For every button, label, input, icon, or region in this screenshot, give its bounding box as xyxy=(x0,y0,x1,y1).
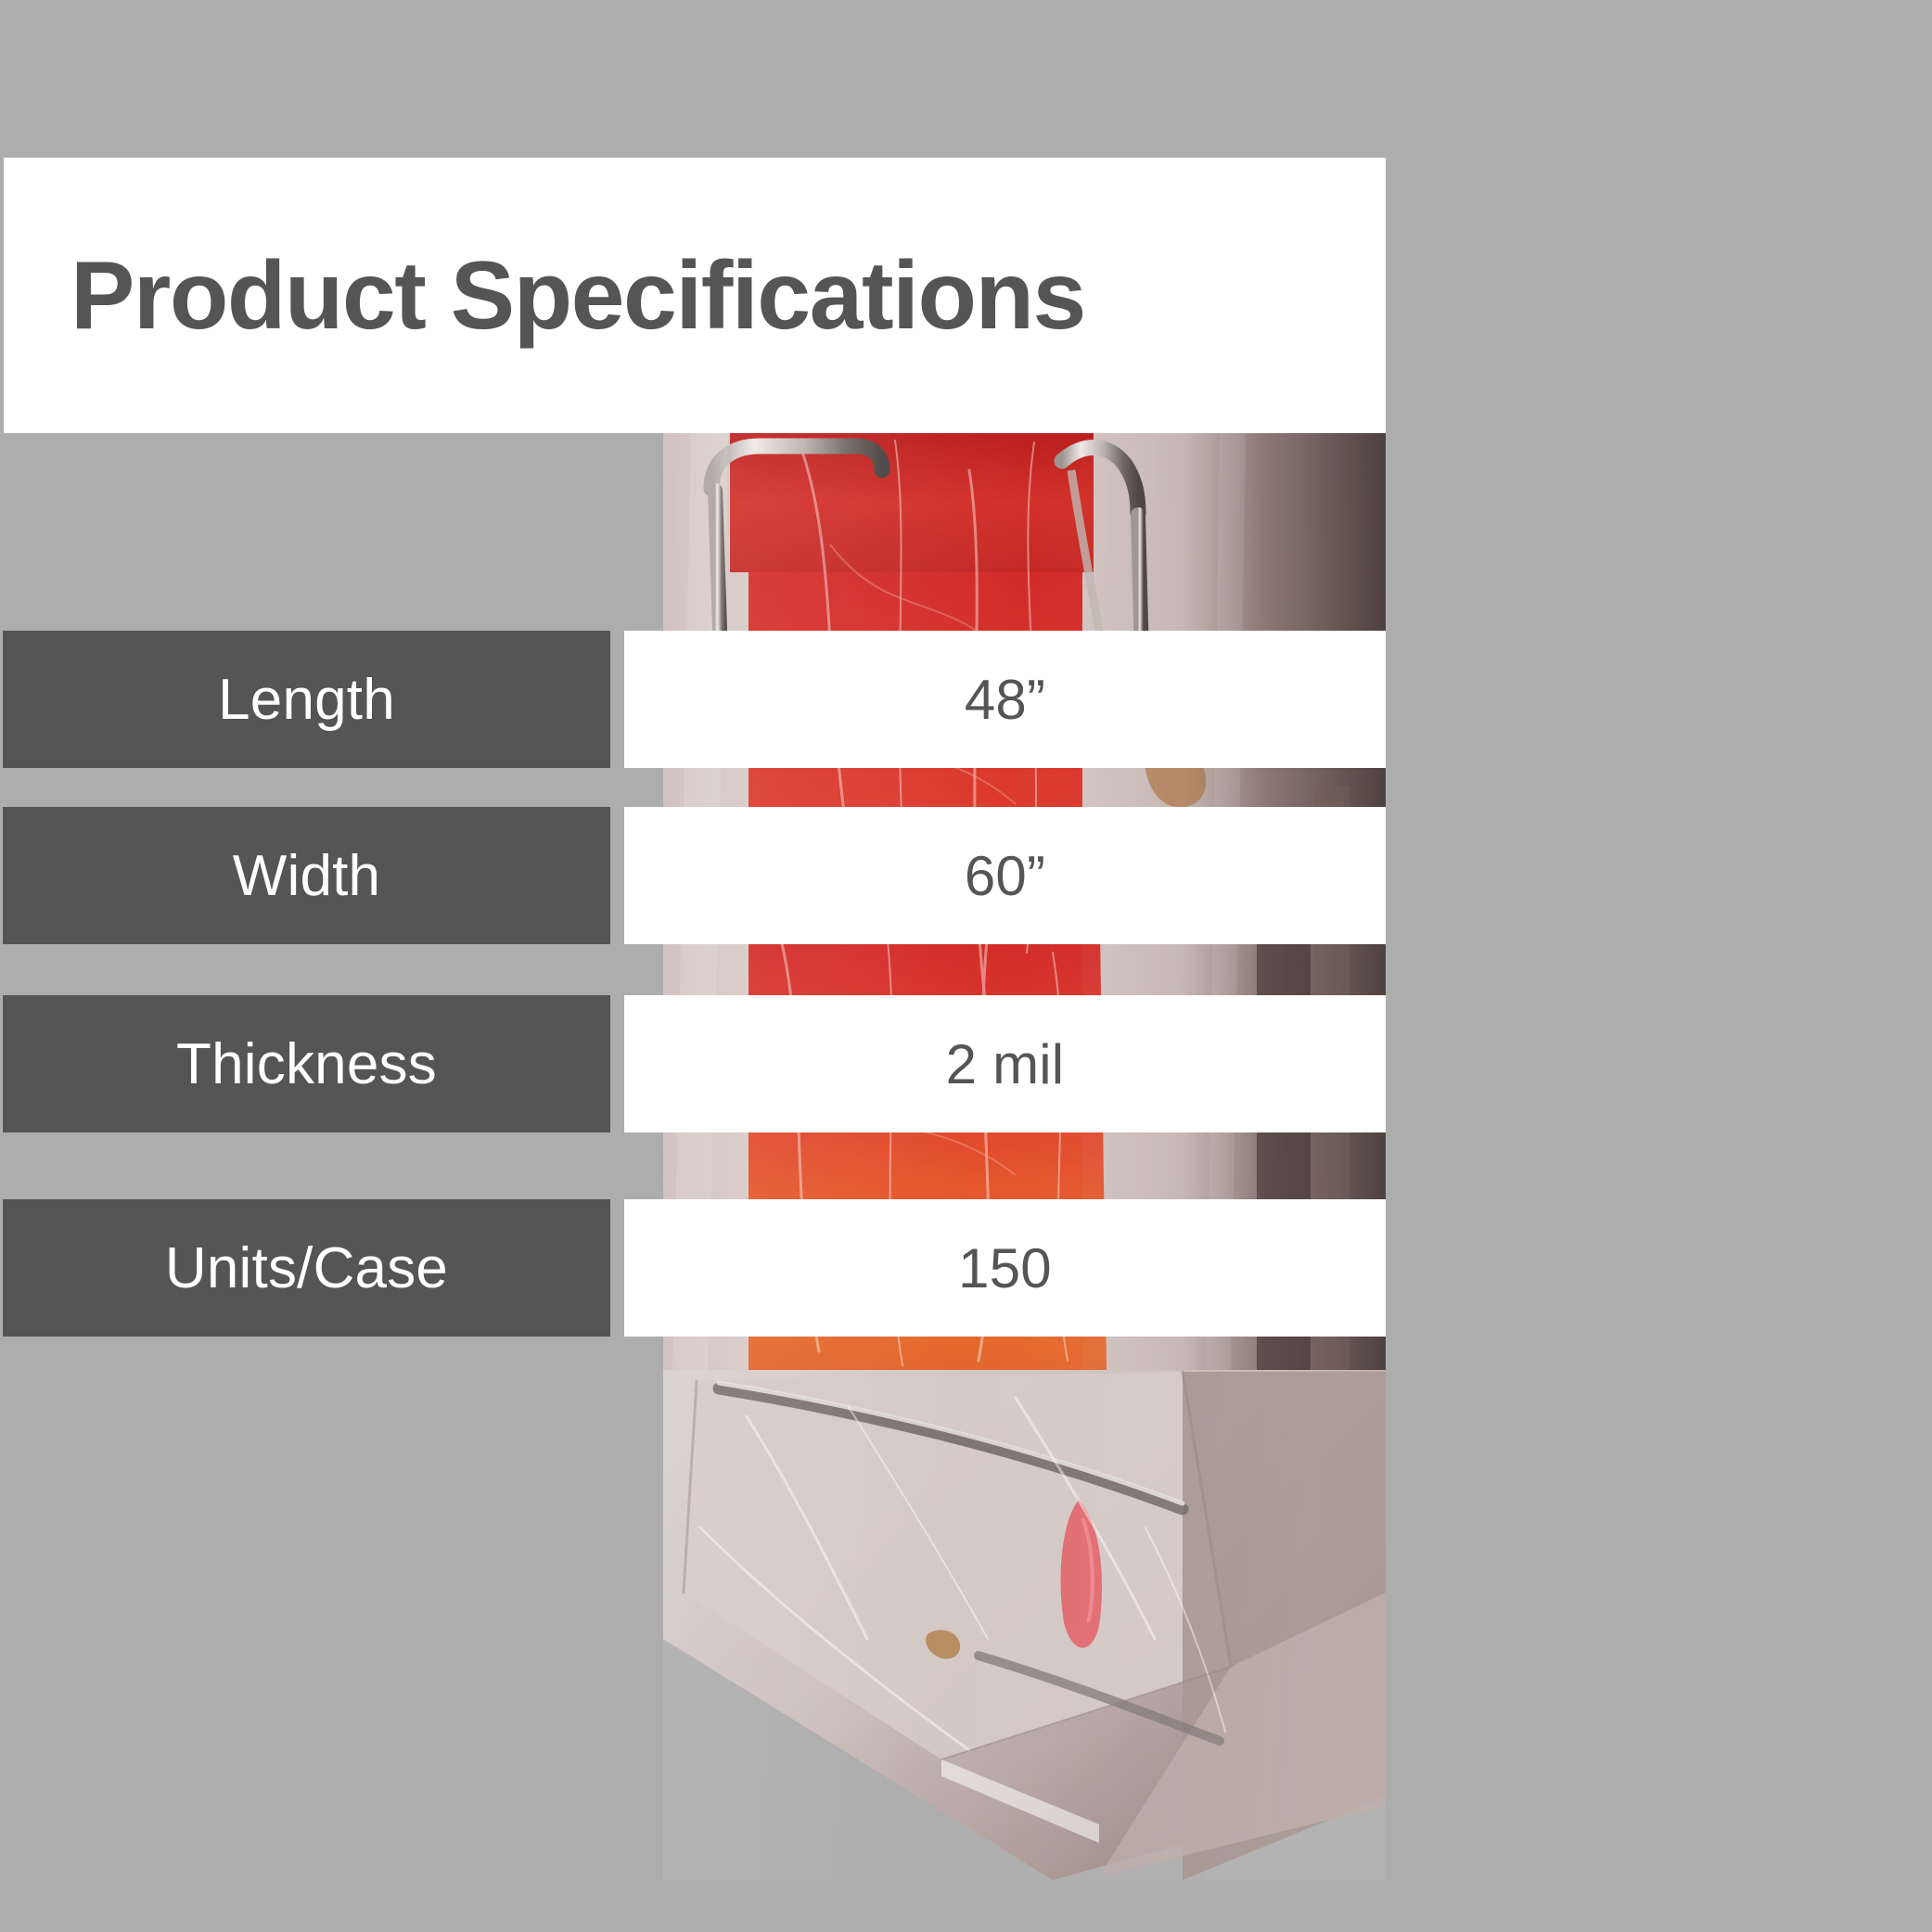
infographic-canvas: Product Specifications Length 48” Width … xyxy=(0,0,1932,1932)
spec-label-thickness: Thickness xyxy=(3,995,610,1132)
spec-value-width: 60” xyxy=(624,807,1386,944)
spec-value-units-per-case: 150 xyxy=(624,1199,1386,1337)
spec-value-thickness: 2 mil xyxy=(624,995,1386,1132)
spec-label-length: Length xyxy=(3,631,610,768)
page-title: Product Specifications xyxy=(70,248,1085,344)
title-panel: Product Specifications xyxy=(4,158,1386,433)
spec-value-length: 48” xyxy=(624,631,1386,768)
spec-row-units-per-case: Units/Case 150 xyxy=(0,1199,1386,1337)
spec-row-thickness: Thickness 2 mil xyxy=(0,995,1386,1132)
spec-row-length: Length 48” xyxy=(0,631,1386,768)
spec-label-width: Width xyxy=(3,807,610,944)
spec-row-width: Width 60” xyxy=(0,807,1386,944)
spec-label-units-per-case: Units/Case xyxy=(3,1199,610,1337)
